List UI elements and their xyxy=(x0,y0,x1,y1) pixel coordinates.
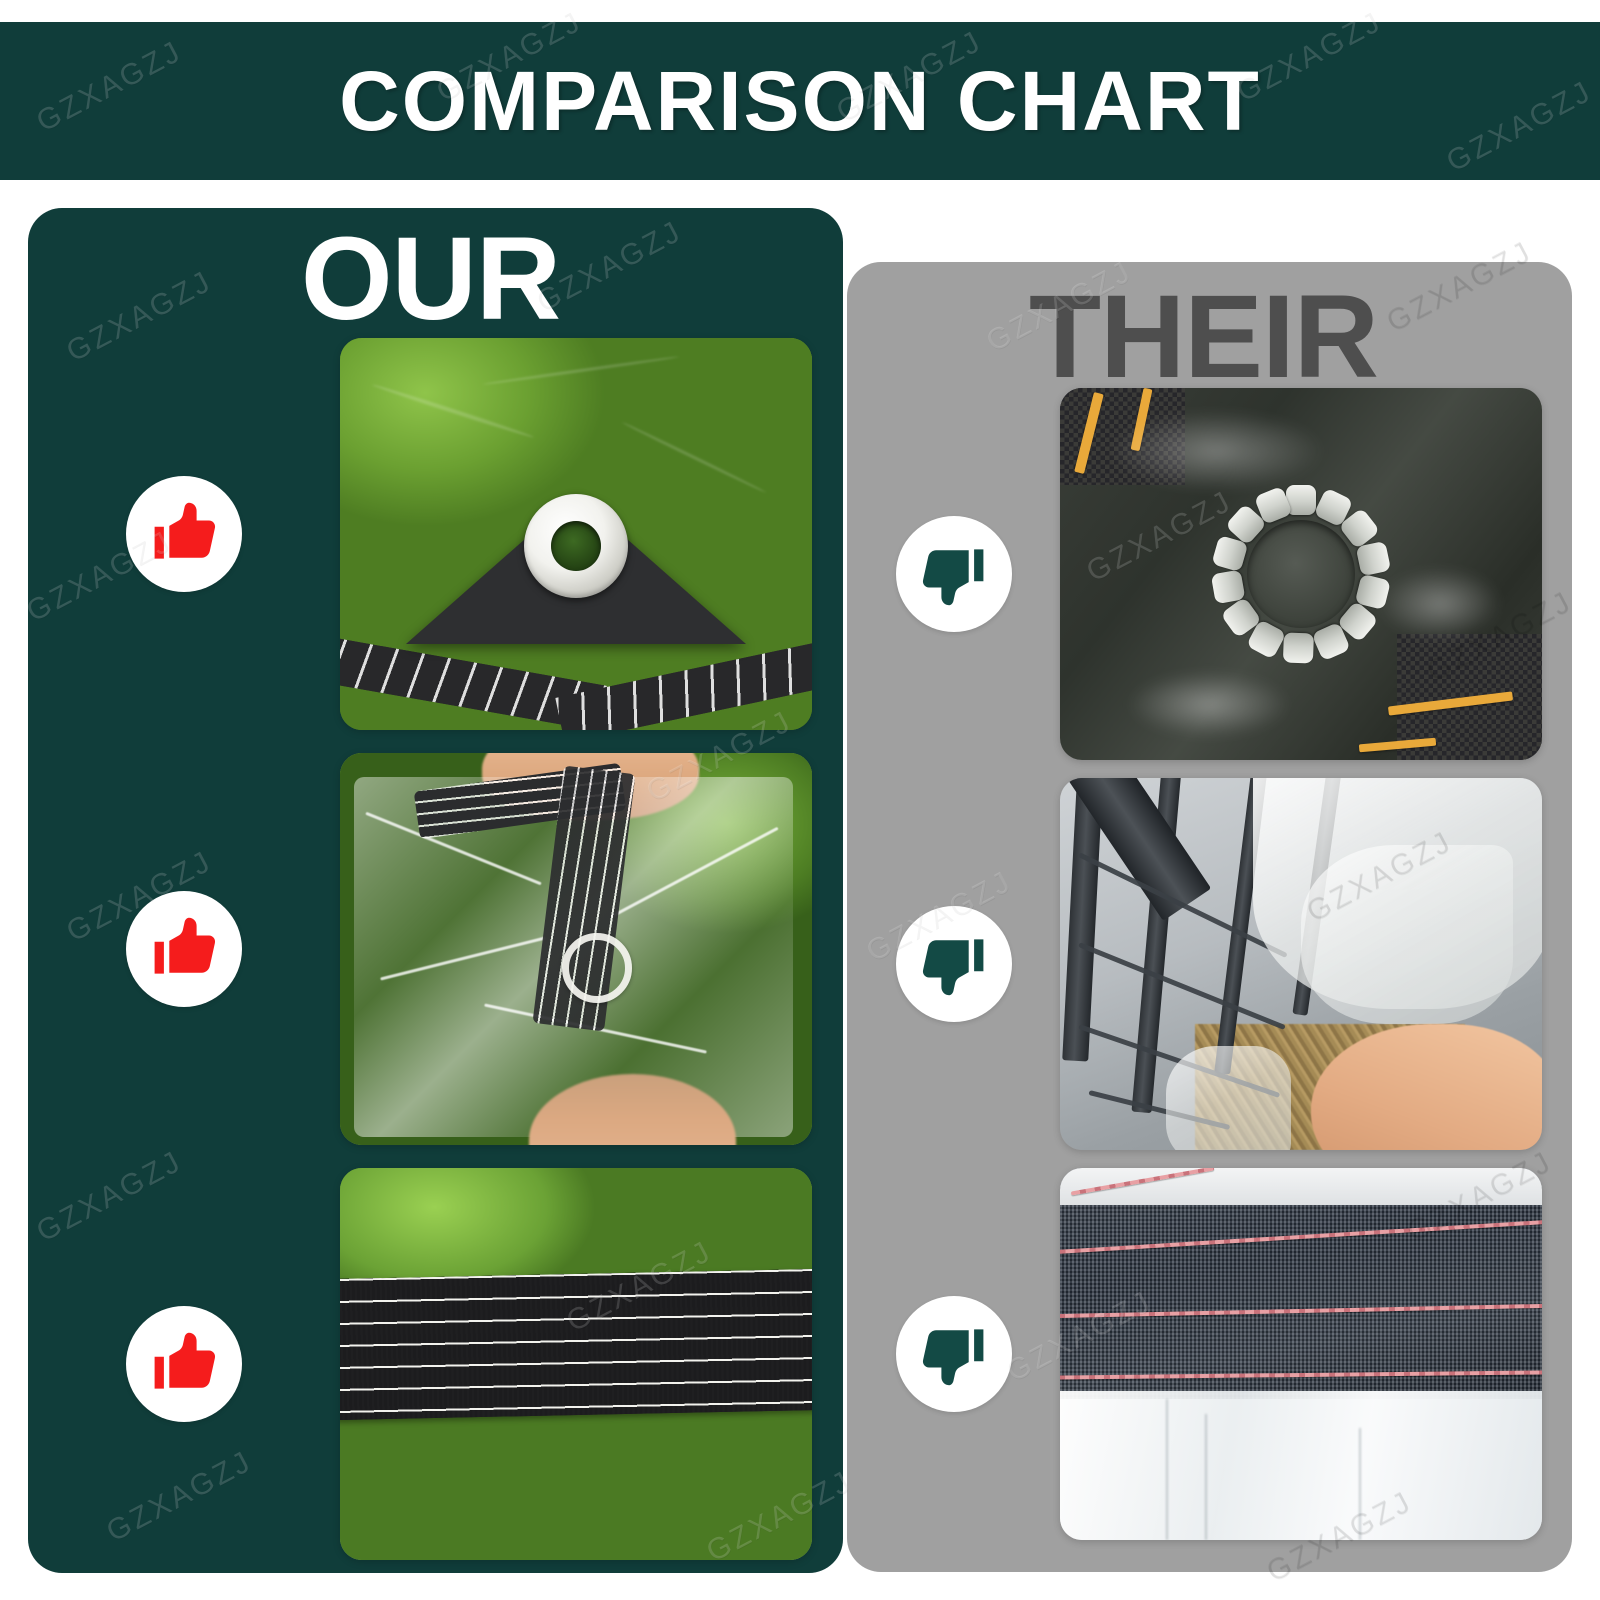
our-row-2 xyxy=(28,753,843,1145)
their-row-1 xyxy=(847,388,1572,760)
thumbs-up-icon xyxy=(148,913,220,985)
thumbs-down-icon xyxy=(918,538,990,610)
metal-grommet xyxy=(524,494,628,598)
their-panel-heading: THEIR xyxy=(847,278,1572,396)
their-row-3 xyxy=(847,1168,1572,1540)
our-photo-1-content xyxy=(340,338,812,730)
our-row-3-badge-slot xyxy=(28,1306,340,1422)
their-row-3-badge-slot xyxy=(847,1296,1060,1412)
our-photo-3-content xyxy=(340,1168,812,1560)
our-photo-2-content xyxy=(340,753,812,1145)
their-photo-2-content xyxy=(1060,778,1542,1150)
thumbs-up-icon xyxy=(148,1328,220,1400)
their-photo-1-content xyxy=(1060,388,1542,760)
their-row-2 xyxy=(847,778,1572,1150)
our-row-2-badge-slot xyxy=(28,891,340,1007)
their-row-2-badge-slot xyxy=(847,906,1060,1022)
thumbs-down-icon xyxy=(918,928,990,1000)
our-row-1 xyxy=(28,338,843,730)
scalloped-grommet xyxy=(1206,479,1396,669)
their-photo-3-blue-mesh-binding-white-sheet xyxy=(1060,1168,1542,1540)
thumbs-down-badge-1 xyxy=(896,516,1012,632)
thumbs-up-icon xyxy=(148,498,220,570)
webbing-band xyxy=(340,1269,812,1420)
our-photo-3-black-webbing-edge-binding xyxy=(340,1168,812,1560)
header-banner: COMPARISON CHART xyxy=(0,22,1600,180)
our-photo-1-reinforced-triangle-corner-grommet xyxy=(340,338,812,730)
thumbs-up-badge-2 xyxy=(126,891,242,1007)
their-row-1-badge-slot xyxy=(847,516,1060,632)
thumbs-up-badge-3 xyxy=(126,1306,242,1422)
our-row-3 xyxy=(28,1168,843,1560)
our-photo-2-clear-pvc-tarp-in-hand xyxy=(340,753,812,1145)
their-photo-1-scalloped-plastic-grommet xyxy=(1060,388,1542,760)
our-panel-heading: OUR xyxy=(28,220,843,338)
our-row-1-badge-slot xyxy=(28,476,340,592)
their-photo-2-torn-thin-plastic-film xyxy=(1060,778,1542,1150)
thumbs-down-badge-2 xyxy=(896,906,1012,1022)
thumbs-down-badge-3 xyxy=(896,1296,1012,1412)
small-eyelet xyxy=(562,933,632,1003)
thumbs-down-icon xyxy=(918,1318,990,1390)
page-title: COMPARISON CHART xyxy=(339,59,1261,143)
thumbs-up-badge-1 xyxy=(126,476,242,592)
their-photo-3-content xyxy=(1060,1168,1542,1540)
